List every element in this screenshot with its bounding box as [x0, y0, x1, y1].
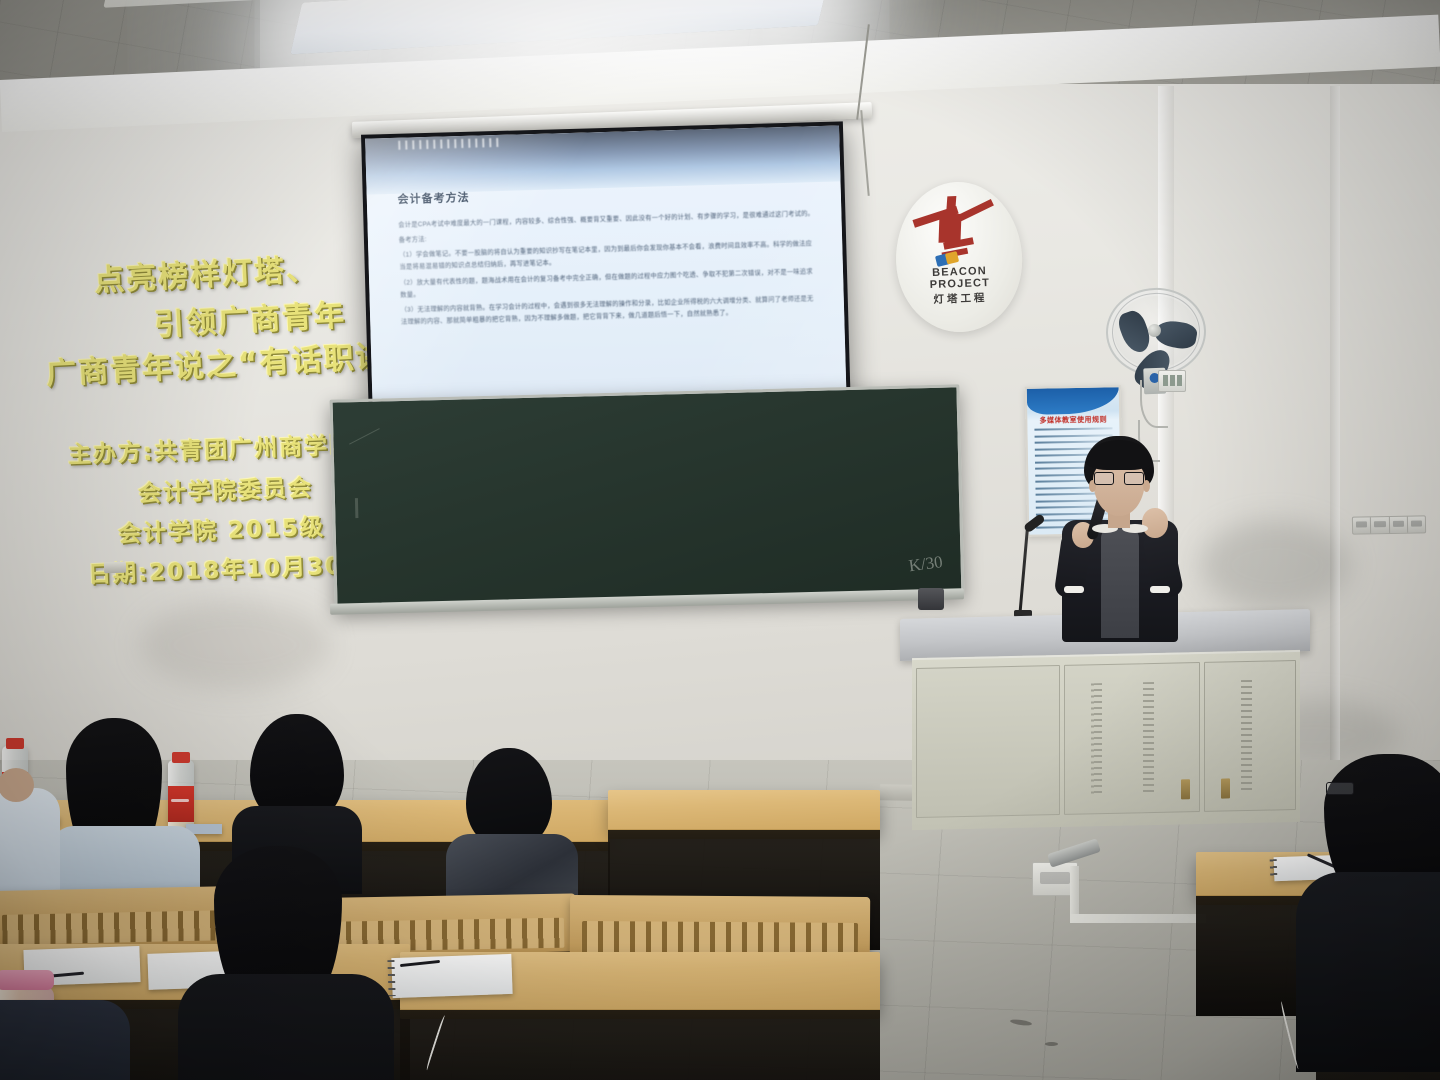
cable-conduit	[1070, 866, 1079, 920]
speaker-presenter	[1044, 436, 1194, 636]
speaker-hand-gesture	[1142, 508, 1168, 538]
socket[interactable]	[1353, 517, 1372, 533]
blackboard-scratch	[355, 498, 358, 518]
student-far-3	[452, 748, 572, 888]
wall-stain	[1200, 520, 1350, 610]
blackboard-eraser	[104, 562, 126, 574]
slide-body: 会计是CPA考试中难度最大的一门课程，内容较多、综合性强、概要背又重要、因此没有…	[398, 208, 818, 333]
lectern-podium	[900, 614, 1310, 824]
socket[interactable]	[1371, 517, 1390, 533]
cabinet-lock[interactable]	[1181, 779, 1190, 799]
vent-slots	[1091, 683, 1102, 795]
slide-header-band	[365, 125, 840, 194]
socket[interactable]	[1389, 517, 1408, 533]
podium-panel[interactable]	[1204, 660, 1296, 812]
student-hair	[466, 748, 552, 848]
chair-back	[570, 895, 870, 959]
student-top	[178, 974, 394, 1080]
poster-banner	[1027, 387, 1119, 415]
lighthouse-icon	[939, 214, 962, 243]
student-far-0	[0, 768, 70, 888]
eyeglasses-icon	[1094, 472, 1146, 486]
slide-title: 会计备考方法	[397, 189, 469, 207]
speaker-cuff	[1064, 586, 1084, 593]
spiral-notebook	[391, 954, 512, 998]
bottle-cap	[6, 738, 24, 749]
wall-stain	[140, 600, 330, 690]
desk-row-far-right	[608, 790, 880, 830]
speaker-cuff	[1150, 586, 1170, 593]
chair-slats	[582, 921, 858, 955]
poster-title: 多媒体教室使用规则	[1027, 414, 1119, 426]
lens	[1124, 472, 1144, 485]
switch-toggle[interactable]	[1177, 375, 1182, 386]
student-top	[1296, 872, 1440, 1072]
cabinet-lock[interactable]	[1221, 778, 1230, 798]
student-near-left	[0, 1000, 140, 1080]
student-shirt	[50, 826, 200, 896]
vent-slots	[1143, 682, 1154, 794]
switch-toggle[interactable]	[1170, 375, 1175, 386]
podium-panel[interactable]	[1064, 662, 1200, 815]
classroom-photo: 点亮榜样灯塔、 引领广商青年 广商青年说之“有话职讲” 主办方:共青团广州商学院…	[0, 0, 1440, 1080]
student-near-center	[182, 846, 382, 1080]
student-right	[1306, 754, 1440, 1054]
podium-panel[interactable]	[916, 665, 1060, 818]
socket[interactable]	[1408, 516, 1426, 532]
floor-debris	[1045, 1042, 1058, 1046]
wall-pilaster	[1330, 86, 1340, 786]
student-far-2	[232, 714, 362, 864]
student-shirt	[0, 788, 60, 898]
desk-surface	[608, 790, 880, 830]
vent-slots	[1241, 680, 1252, 792]
cable-conduit	[1070, 914, 1206, 923]
desk-shadow	[400, 1010, 880, 1080]
blackboard-chalk-mark: K/30	[908, 552, 944, 576]
lighthouse-base-icon	[945, 251, 959, 265]
speaker-shirt	[1101, 528, 1139, 638]
tumbler-lid	[0, 970, 54, 990]
podium-cabinet	[912, 650, 1300, 830]
eyeglasses-icon	[1326, 782, 1354, 795]
lens	[1094, 472, 1114, 485]
poster-line	[1034, 427, 1112, 430]
wall-fan[interactable]	[1104, 286, 1203, 377]
slogan-line-3: 广商青年说之“有话职讲”	[45, 331, 397, 393]
blackboard-scratch	[349, 428, 380, 445]
presentation-slide: 会计备考方法 会计是CPA考试中难度最大的一门课程，内容较多、综合性强、概要背又…	[365, 125, 847, 419]
student-top	[0, 1000, 130, 1080]
wall-socket-row[interactable]	[1352, 515, 1426, 534]
podium-equipment-box[interactable]	[918, 588, 944, 610]
beacon-logo-chinese: 灯塔工程	[897, 292, 1023, 308]
blackboard: K/30	[330, 384, 965, 611]
slide-header-decoration	[398, 138, 502, 150]
